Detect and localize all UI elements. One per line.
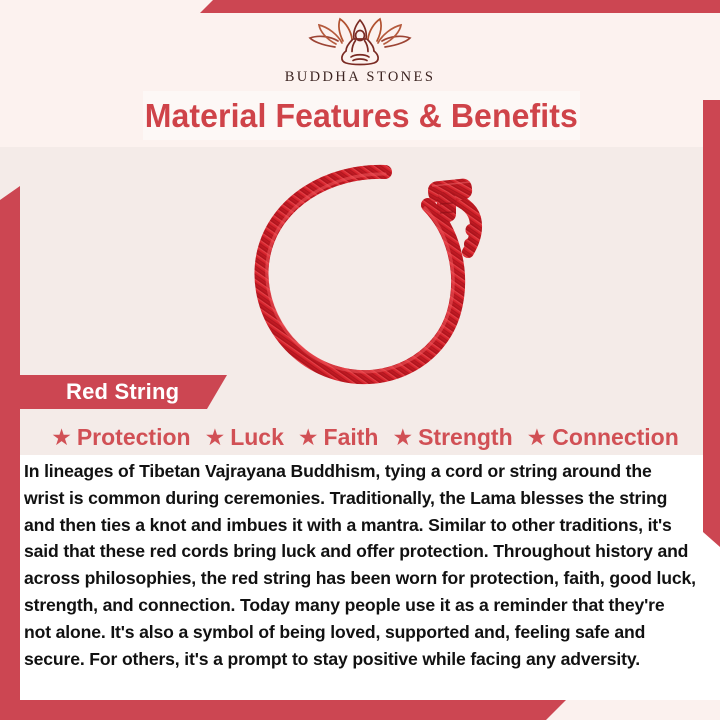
page-title: Material Features & Benefits <box>145 97 578 135</box>
star-icon: ★ <box>392 426 413 449</box>
description-block: In lineages of Tibetan Vajrayana Buddhis… <box>24 458 696 672</box>
description-text: In lineages of Tibetan Vajrayana Buddhis… <box>24 458 696 672</box>
decorative-bar-left <box>0 186 20 700</box>
benefit-item-protection: ★ Protection <box>51 424 190 451</box>
benefit-item-luck: ★ Luck <box>205 424 284 451</box>
benefit-label: Luck <box>230 424 284 451</box>
decorative-bar-bottom <box>0 700 566 720</box>
decorative-bar-top <box>200 0 720 13</box>
star-icon: ★ <box>51 426 72 449</box>
benefit-label: Connection <box>552 424 679 451</box>
material-label-banner: Red String <box>20 375 227 409</box>
star-icon: ★ <box>205 426 226 449</box>
decorative-bar-right <box>703 100 720 547</box>
star-icon: ★ <box>298 426 319 449</box>
page-title-band: Material Features & Benefits <box>143 91 580 140</box>
brand-logo: BUDDHA STONES <box>0 16 720 90</box>
benefit-item-connection: ★ Connection <box>527 424 679 451</box>
benefit-label: Protection <box>77 424 191 451</box>
material-label: Red String <box>66 379 179 405</box>
benefit-label: Faith <box>324 424 379 451</box>
benefit-item-strength: ★ Strength <box>392 424 512 451</box>
infographic-page: BUDDHA STONES Material Features & Benefi… <box>0 0 720 720</box>
lotus-meditation-figure-icon <box>305 16 415 66</box>
red-braided-string-bracelet-photo <box>232 160 498 388</box>
star-icon: ★ <box>527 426 548 449</box>
benefit-item-faith: ★ Faith <box>298 424 379 451</box>
brand-name: BUDDHA STONES <box>285 69 436 86</box>
benefit-label: Strength <box>418 424 513 451</box>
benefits-row: ★ Protection ★ Luck ★ Faith ★ Strength ★… <box>20 421 710 453</box>
